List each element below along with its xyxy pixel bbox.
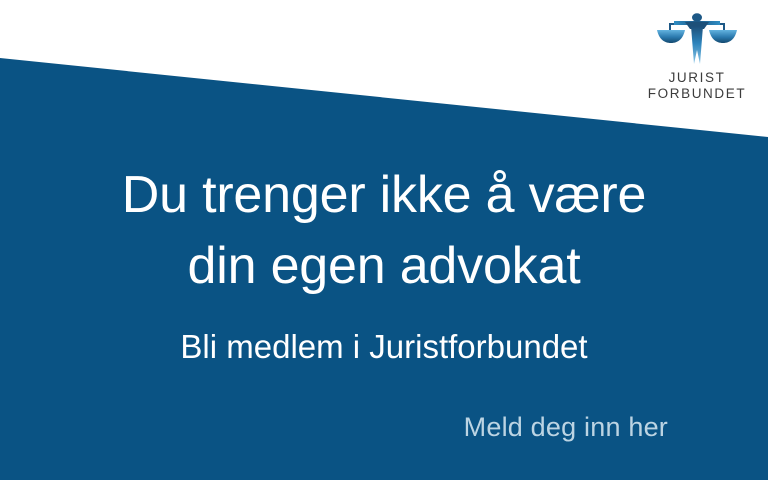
page-title: Du trenger ikke å være din egen advokat — [0, 160, 768, 301]
headline-line-2: din egen advokat — [0, 231, 768, 302]
brand-logo[interactable]: JURIST FORBUNDET — [636, 12, 758, 102]
logo-wordmark: JURIST FORBUNDET — [636, 70, 758, 102]
logo-word-jurist: JURIST — [636, 70, 758, 86]
signup-cta-link[interactable]: Meld deg inn her — [464, 412, 668, 443]
scales-of-justice-icon — [654, 12, 740, 64]
logo-word-forbundet: FORBUNDET — [636, 86, 758, 102]
subheading: Bli medlem i Juristforbundet — [0, 328, 768, 366]
advertisement-banner[interactable]: JURIST FORBUNDET Du trenger ikke å være … — [0, 0, 768, 480]
headline-line-1: Du trenger ikke å være — [0, 160, 768, 231]
